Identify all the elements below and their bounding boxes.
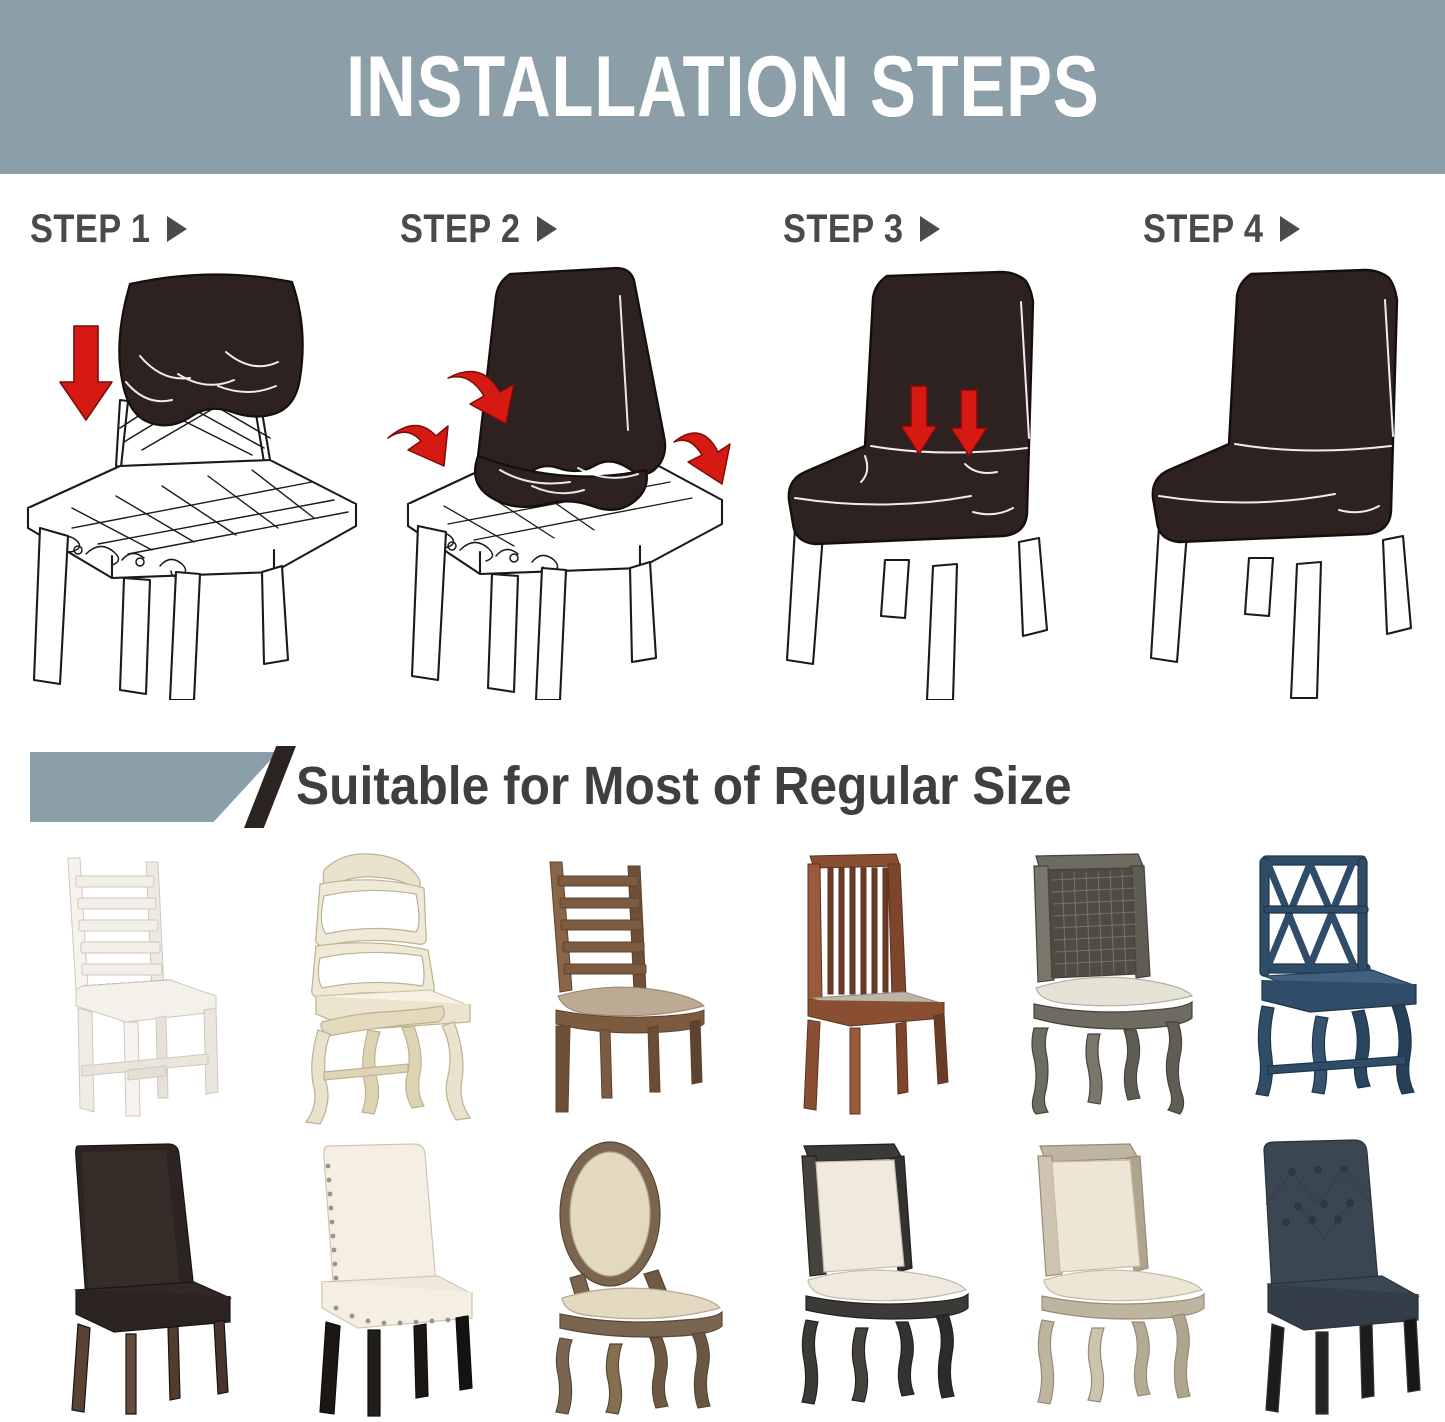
step-2-illustration: [382, 260, 742, 700]
installation-steps-section: STEP 1: [0, 174, 1445, 734]
triangle-right-icon: [1280, 216, 1300, 242]
chair-gray-cane-back-upholstered: [978, 840, 1218, 1130]
step-2-label: STEP 2: [400, 206, 557, 252]
step-1-illustration: [12, 260, 372, 700]
chair-brown-ladder-back-fabric-seat: [498, 840, 738, 1130]
step-2-label-text: STEP 2: [400, 209, 520, 249]
chair-dark-gray-square-back-linen: [738, 1132, 978, 1422]
step-4-label-text: STEP 4: [1143, 209, 1263, 249]
step-3-illustration: [765, 260, 1125, 700]
chair-navy-faux-bamboo-lattice: [1206, 840, 1445, 1130]
triangle-right-icon: [537, 216, 557, 242]
step-1-label: STEP 1: [30, 206, 187, 252]
step-4-label: STEP 4: [1143, 206, 1300, 252]
chair-charcoal-tufted-parsons: [1206, 1132, 1445, 1422]
chair-cream-nailhead-parsons: [258, 1132, 498, 1422]
chair-dark-brown-leather-parsons: [18, 1132, 258, 1422]
suitable-section-header: Suitable for Most of Regular Size: [0, 738, 1445, 840]
page-title: INSTALLATION STEPS: [346, 44, 1099, 130]
chair-white-ladder-back-wood-seat: [18, 840, 258, 1130]
step-1: STEP 1: [12, 174, 372, 734]
step-1-label-text: STEP 1: [30, 209, 150, 249]
triangle-right-icon: [920, 216, 940, 242]
chair-grid: [0, 840, 1445, 1420]
chair-oval-medallion-back: [498, 1132, 738, 1422]
chair-grid-row: [0, 1132, 1445, 1422]
step-4: STEP 4: [1125, 174, 1445, 734]
step-3-label-text: STEP 3: [783, 209, 903, 249]
chair-cream-french-carved: [258, 840, 498, 1130]
step-3: STEP 3: [765, 174, 1125, 734]
suitable-title: Suitable for Most of Regular Size: [296, 746, 1072, 826]
chair-weathered-oak-square-back: [978, 1132, 1218, 1422]
header-banner: INSTALLATION STEPS: [0, 0, 1445, 174]
chair-walnut-spindle-back: [738, 840, 978, 1130]
chair-grid-row: [0, 840, 1445, 1130]
step-3-label: STEP 3: [783, 206, 940, 252]
step-2: STEP 2: [382, 174, 742, 734]
banner-parallelogram: [30, 752, 278, 822]
triangle-right-icon: [167, 216, 187, 242]
step-4-illustration: [1125, 260, 1445, 700]
